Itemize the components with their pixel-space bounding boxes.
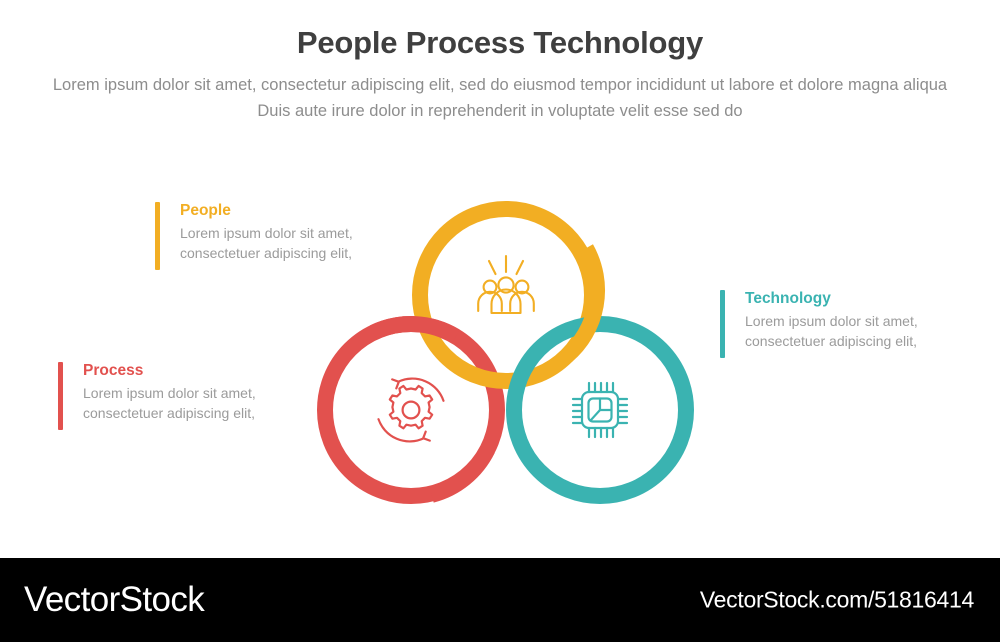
circle-people[interactable] [420, 209, 592, 381]
label-title-process: Process [83, 362, 256, 379]
brand-wordmark: VectorStock [24, 580, 204, 620]
venn-circles-svg [300, 180, 700, 520]
page-subtitle: Lorem ipsum dolor sit amet, consectetur … [50, 73, 950, 124]
label-block-people[interactable]: People Lorem ipsum dolor sit amet, conse… [155, 202, 353, 270]
label-description-process: Lorem ipsum dolor sit amet, consectetuer… [83, 384, 256, 424]
label-text-process: Process Lorem ipsum dolor sit amet, cons… [63, 362, 256, 424]
header: People Process Technology Lorem ipsum do… [0, 0, 1000, 124]
label-block-technology[interactable]: Technology Lorem ipsum dolor sit amet, c… [720, 290, 918, 358]
label-block-process[interactable]: Process Lorem ipsum dolor sit amet, cons… [58, 362, 256, 430]
brand-url: VectorStock.com/51816414 [700, 587, 974, 614]
label-title-people: People [180, 202, 353, 219]
circle-process-overlap-arc-2 [432, 450, 488, 495]
label-description-people: Lorem ipsum dolor sit amet, consectetuer… [180, 224, 353, 264]
label-text-people: People Lorem ipsum dolor sit amet, conse… [160, 202, 353, 264]
label-title-technology: Technology [745, 290, 918, 307]
cpu-chip-icon [573, 383, 627, 437]
label-text-technology: Technology Lorem ipsum dolor sit amet, c… [725, 290, 918, 352]
people-group-icon [478, 256, 534, 313]
footer-bar: VectorStock VectorStock.com/51816414 [0, 558, 1000, 642]
venn-diagram: People Lorem ipsum dolor sit amet, conse… [0, 150, 1000, 550]
label-description-technology: Lorem ipsum dolor sit amet, consectetuer… [745, 312, 918, 352]
gear-refresh-icon [379, 379, 444, 442]
page-title: People Process Technology [0, 0, 1000, 61]
